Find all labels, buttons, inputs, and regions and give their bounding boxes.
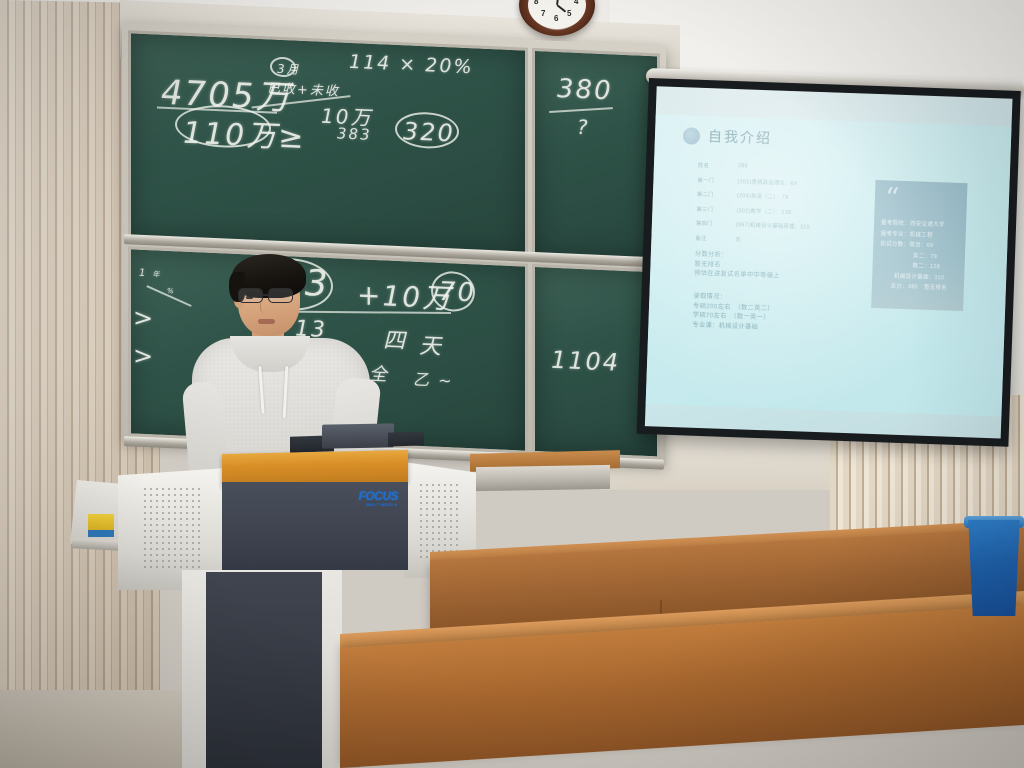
clock-numeral-6: 6 bbox=[554, 14, 558, 23]
row-value: 286 bbox=[738, 163, 748, 170]
row-key: 姓名 bbox=[698, 162, 738, 170]
brand-name: FOCUS bbox=[359, 489, 399, 503]
quote-line: 机械设计基础：110 bbox=[879, 271, 959, 284]
blackboard-panel-top-right: 380 ? bbox=[532, 48, 660, 264]
row-key: 第三门 bbox=[696, 205, 736, 213]
lectern-body: FOCUS MULTIMEDIA bbox=[222, 482, 408, 570]
glasses-lens-right bbox=[268, 288, 293, 303]
admission-line: 学硕70左右 （数一英一） bbox=[693, 311, 774, 323]
table-row: 备注 无 bbox=[695, 234, 809, 245]
trash-can bbox=[966, 520, 1022, 616]
quote-line: 初试分数：政治：69 bbox=[880, 239, 960, 252]
admission-line: 专业课：机械设计基础 bbox=[692, 320, 773, 332]
clock-hour-hand bbox=[556, 4, 566, 12]
chalk-circle bbox=[270, 56, 296, 77]
slide-analysis-block: 分数分析： 暂无排名 预估在进复试名单中中等偏上 bbox=[694, 250, 781, 281]
table-row: 第二门 (204)英语（二）：79 bbox=[697, 191, 811, 202]
quote-mark-icon: “ bbox=[884, 184, 899, 212]
row-key: 第一门 bbox=[697, 176, 737, 184]
lectern-panel-right[interactable] bbox=[388, 431, 424, 446]
analysis-heading: 分数分析： bbox=[695, 250, 781, 262]
glasses-icon bbox=[238, 288, 302, 304]
speaker-grille-left bbox=[142, 486, 200, 568]
lectern-monitor[interactable] bbox=[322, 423, 394, 448]
quote-line: 数二：128 bbox=[879, 260, 959, 273]
row-key: 第二门 bbox=[697, 191, 737, 199]
classroom-scene: 8 7 6 5 4 4705万 3月 已收+未收 114 × 20% 110万≥… bbox=[0, 0, 1024, 768]
chalk-scribble: 乙 ~ bbox=[413, 366, 454, 392]
chalk-circle bbox=[395, 111, 459, 150]
admission-heading: 录取情况： bbox=[693, 292, 774, 304]
chalk-note: 114 × 20% bbox=[349, 51, 474, 78]
slide-info-table: 姓名 286 第一门 (101)思想政治理论：69 第二门 (204)英语（二）… bbox=[695, 162, 812, 253]
slide-title-row: 自我介绍 bbox=[683, 125, 773, 148]
chalk-scribble: 天 bbox=[419, 328, 443, 361]
row-value: (204)英语（二）：79 bbox=[737, 192, 789, 201]
mouth bbox=[258, 319, 275, 324]
quote-line: 英二：79 bbox=[880, 250, 960, 263]
quote-line: 报考院校：西安交通大学 bbox=[881, 218, 961, 231]
brand-subtitle: MULTIMEDIA bbox=[359, 503, 399, 507]
row-key: 备注 bbox=[695, 234, 735, 242]
quote-line: 报考专业：机械工程 bbox=[881, 229, 961, 242]
row-value: (101)思想政治理论：69 bbox=[737, 178, 797, 187]
table-row: 第一门 (101)思想政治理论：69 bbox=[697, 176, 811, 187]
chalk-scribble: > bbox=[133, 303, 155, 332]
chalk-note: 383 bbox=[337, 124, 372, 144]
chalk-note: 1104 bbox=[551, 346, 620, 377]
projection-surface: 自我介绍 姓名 286 第一门 (101)思想政治理论：69 第二门 (204)… bbox=[645, 86, 1013, 438]
slide-quote-box: “ 报考院校：西安交通大学 报考专业：机械工程 初试分数：政治：69 英二：79… bbox=[871, 180, 967, 311]
table-row: 第三门 (302)数学（二）：128 bbox=[696, 205, 810, 216]
blue-lid bbox=[88, 530, 114, 537]
chalk-circle bbox=[431, 270, 475, 312]
row-value: 无 bbox=[735, 236, 741, 243]
quote-lines: 报考院校：西安交通大学 报考专业：机械工程 初试分数：政治：69 英二：79 数… bbox=[879, 218, 962, 294]
side-counter-rail bbox=[476, 465, 610, 491]
analysis-line: 暂无排名 bbox=[694, 259, 780, 271]
row-key: 第四门 bbox=[696, 220, 736, 228]
circle-avatar-icon bbox=[683, 127, 701, 145]
chalk-scribble: > bbox=[133, 341, 155, 370]
slide-admission-block: 录取情况： 专硕200左右 （数二英二） 学硕70左右 （数一英一） 专业课：机… bbox=[692, 292, 774, 333]
table-row: 第四门 (897)机械设计基础原理：110 bbox=[696, 220, 810, 231]
table-row: 姓名 286 bbox=[698, 162, 812, 173]
blackboard-panel-top-left: 4705万 3月 已收+未收 114 × 20% 110万≥ 10万 383 3… bbox=[128, 30, 528, 257]
lectern-wood-top bbox=[222, 450, 408, 486]
quote-line: 总分：385 暂无排名 bbox=[879, 281, 959, 294]
admission-line: 专硕200左右 （数二英二） bbox=[693, 301, 774, 313]
chalk-note: ? bbox=[577, 115, 590, 140]
chalk-note: 10万 bbox=[321, 100, 372, 131]
glasses-bridge bbox=[263, 294, 269, 296]
clock-numeral-7: 7 bbox=[541, 9, 545, 18]
clock-numeral-8: 8 bbox=[534, 0, 538, 6]
lectern-column-front bbox=[206, 572, 322, 768]
chalk-scribble: 1 年 bbox=[139, 268, 162, 280]
slide-content: 自我介绍 姓名 286 第一门 (101)思想政治理论：69 第二门 (204)… bbox=[646, 114, 1012, 416]
clock-numeral-4: 4 bbox=[574, 0, 578, 6]
clock-face: 8 7 6 5 4 bbox=[528, 0, 586, 29]
projection-screen: 自我介绍 姓名 286 第一门 (101)思想政治理论：69 第二门 (204)… bbox=[637, 78, 1021, 447]
row-value: (897)机械设计基础原理：110 bbox=[736, 221, 810, 231]
slide-title: 自我介绍 bbox=[708, 126, 773, 148]
chalk-note: 380 bbox=[557, 74, 613, 106]
chalk-scribble: 四 bbox=[383, 322, 407, 355]
glasses-lens-left bbox=[238, 288, 263, 303]
row-value: (302)数学（二）：128 bbox=[736, 207, 791, 216]
chalk-note: 已收+未收 bbox=[267, 77, 340, 99]
lectern-brand-logo: FOCUS MULTIMEDIA bbox=[359, 489, 399, 507]
clock-numeral-5: 5 bbox=[567, 9, 571, 18]
analysis-line: 预估在进复试名单中中等偏上 bbox=[694, 269, 780, 281]
